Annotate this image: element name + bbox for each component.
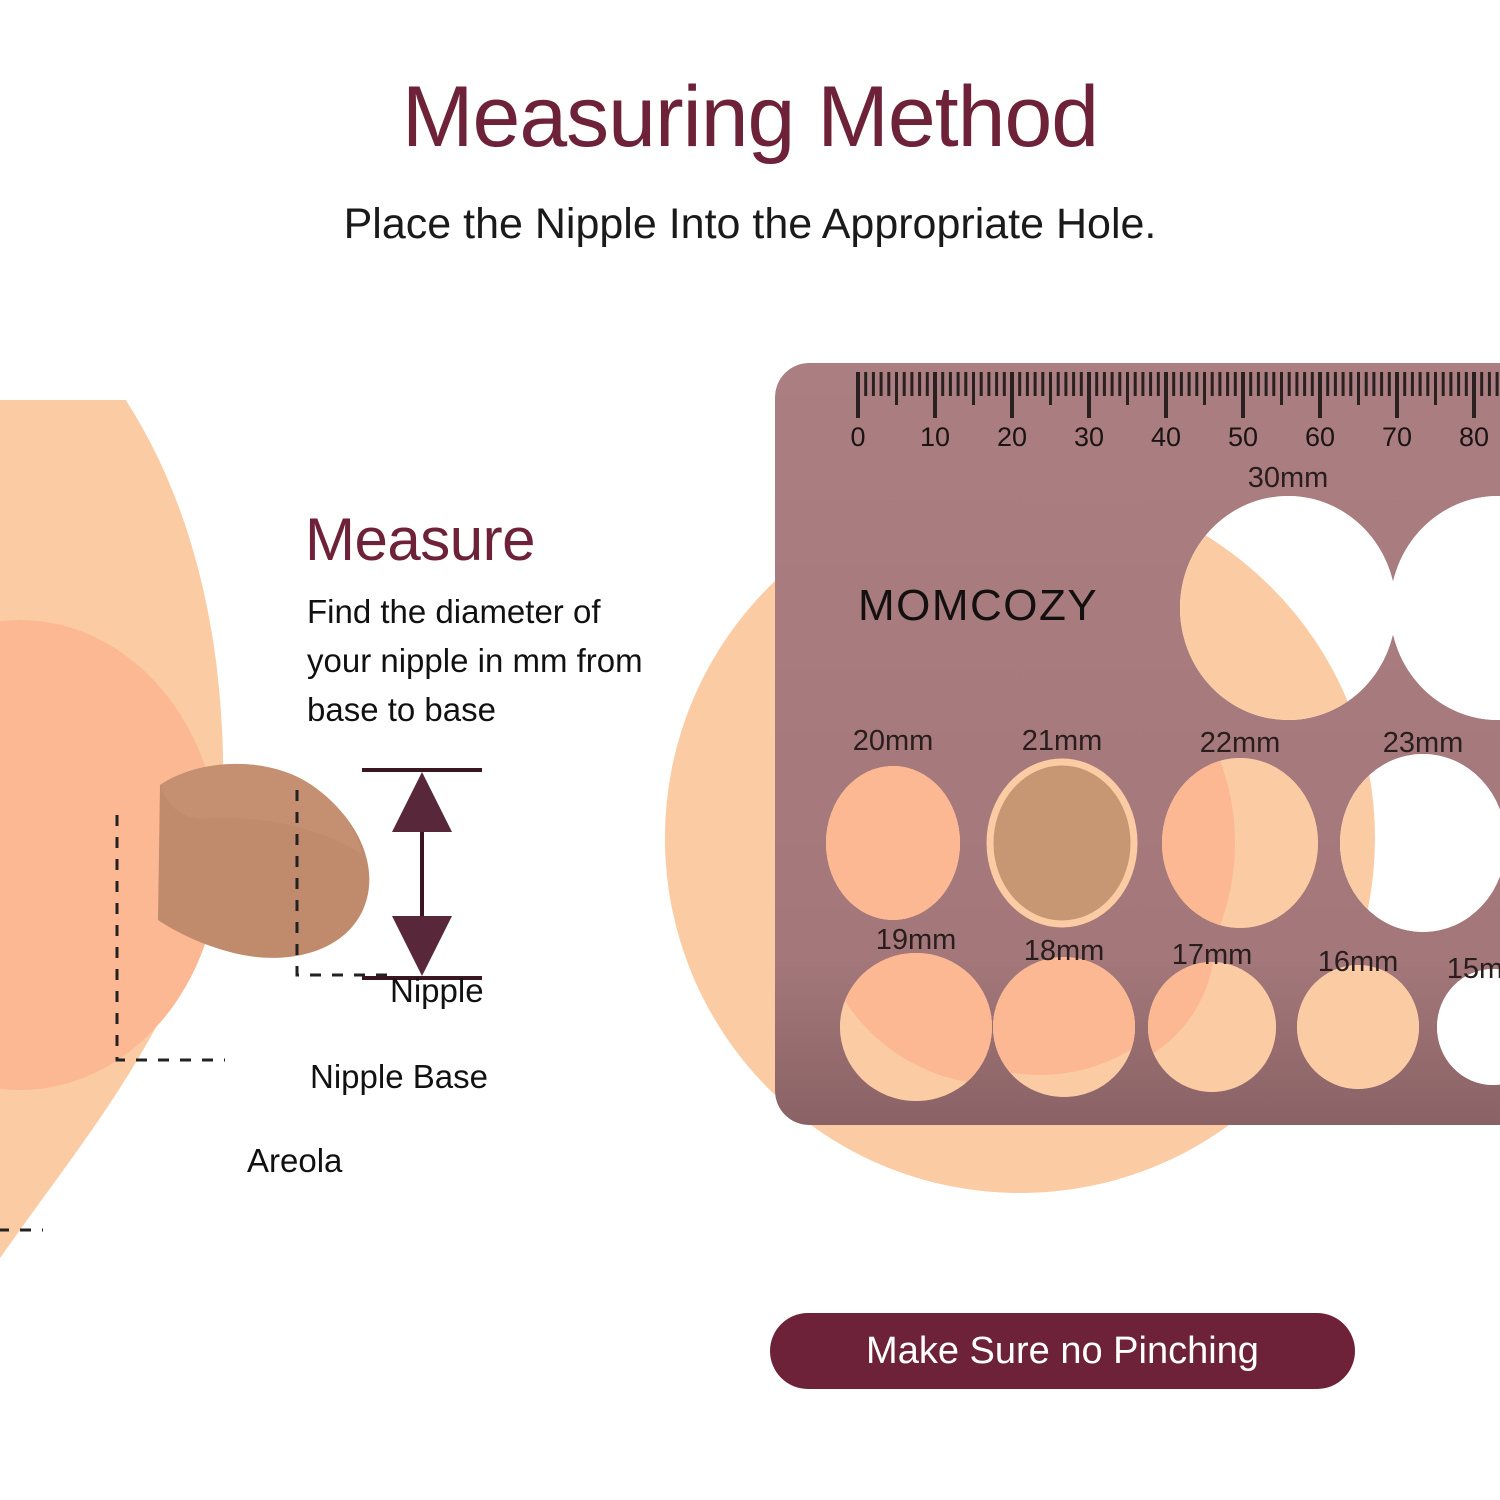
tick-label: 0 xyxy=(850,422,865,452)
brand-wordmark: MOMCOZY xyxy=(858,581,1098,630)
nipple-ruler-illustration: 0 10 20 30 40 50 60 70 80 MOMCOZY 30mm 2… xyxy=(0,0,1500,1500)
tick-label: 50 xyxy=(1228,422,1258,452)
tick-label: 60 xyxy=(1305,422,1335,452)
tick-label: 70 xyxy=(1382,422,1412,452)
tick-label: 40 xyxy=(1151,422,1181,452)
hole-label-16mm: 16mm xyxy=(1318,946,1399,978)
ruler-tick-labels: 0 10 20 30 40 50 60 70 80 xyxy=(850,422,1489,452)
no-pinching-banner[interactable]: Make Sure no Pinching xyxy=(770,1313,1355,1389)
hole-label-19mm: 19mm xyxy=(876,924,957,956)
hole-label-30mm: 30mm xyxy=(1248,462,1329,494)
infographic-canvas: Measuring Method Place the Nipple Into t… xyxy=(0,0,1500,1500)
hole-label-22mm: 22mm xyxy=(1200,727,1281,759)
tick-label: 80 xyxy=(1459,422,1489,452)
hole-label-23mm: 23mm xyxy=(1383,727,1464,759)
tick-label: 20 xyxy=(997,422,1027,452)
no-pinching-label: Make Sure no Pinching xyxy=(866,1330,1259,1373)
hole-label-17mm: 17mm xyxy=(1172,939,1253,971)
tick-label: 30 xyxy=(1074,422,1104,452)
hole-label-21mm: 21mm xyxy=(1022,725,1103,757)
ruler-graphic: 0 10 20 30 40 50 60 70 80 MOMCOZY 30mm 2… xyxy=(0,0,1500,1500)
hole-label-20mm: 20mm xyxy=(853,725,934,757)
hole-label-18mm: 18mm xyxy=(1024,935,1105,967)
tick-label: 10 xyxy=(920,422,950,452)
hole-label-15mm: 15mm xyxy=(1447,953,1500,985)
